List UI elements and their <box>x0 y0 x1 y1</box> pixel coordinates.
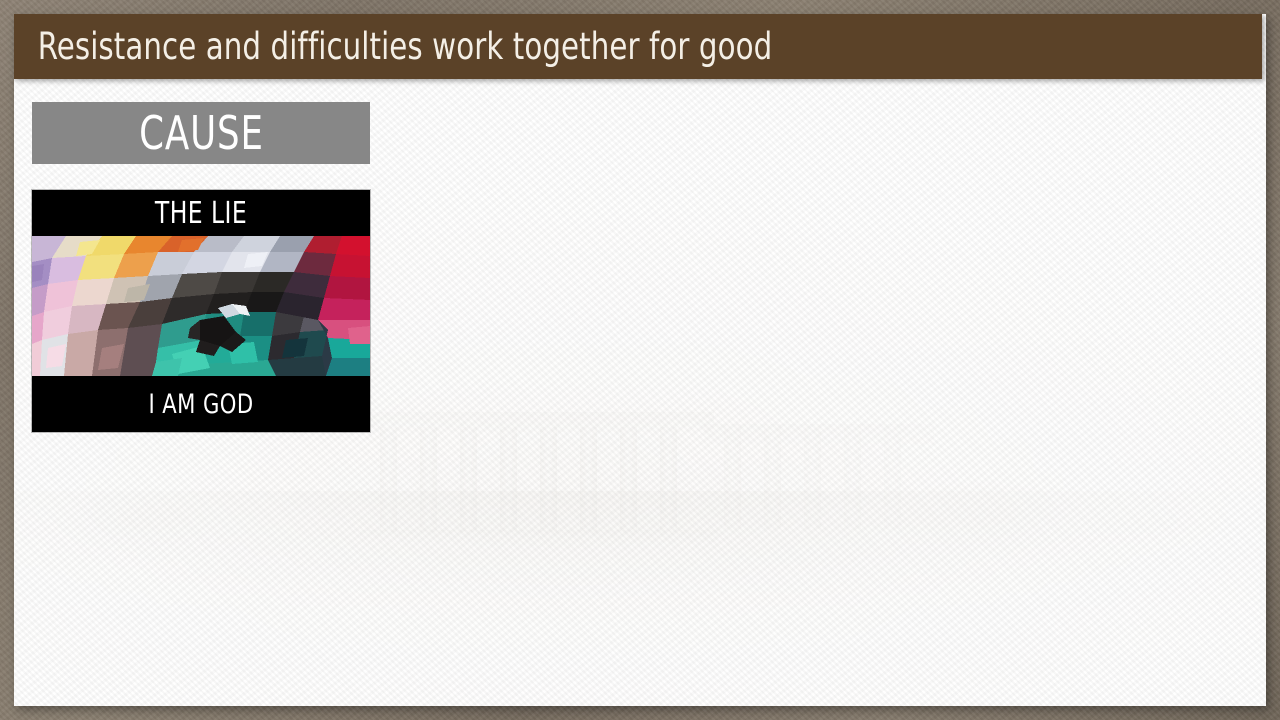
watermark-ground <box>14 491 1266 706</box>
cause-label: CAUSE <box>139 110 264 156</box>
slide-outer-frame: Resistance and difficulties work togethe… <box>0 0 1280 720</box>
temple-column <box>420 427 437 532</box>
the-lie-card: THE LIE <box>32 190 370 432</box>
temple-column <box>804 424 821 529</box>
temple-column <box>540 427 557 532</box>
temple-column <box>460 427 477 532</box>
temple-column <box>884 424 901 529</box>
page-title: Resistance and difficulties work togethe… <box>14 25 772 68</box>
low-poly-eye-image <box>32 236 370 376</box>
temple-column <box>844 424 861 529</box>
temple-base <box>360 530 718 542</box>
temple-entablature <box>704 424 934 444</box>
watermark-temple-secondary <box>714 424 924 529</box>
temple-column <box>620 427 637 532</box>
slide-canvas: Resistance and difficulties work togethe… <box>14 14 1266 706</box>
temple-entablature <box>364 412 714 432</box>
cause-heading-box: CAUSE <box>32 102 370 164</box>
watermark-trees <box>14 461 1266 556</box>
temple-column <box>660 427 677 532</box>
temple-column <box>724 424 741 529</box>
temple-column <box>380 427 397 532</box>
eye-artwork-svg <box>32 236 370 376</box>
i-am-god-caption: I AM GOD <box>54 376 348 432</box>
slide-title-bar: Resistance and difficulties work togethe… <box>14 14 1262 79</box>
watermark-temple-main <box>374 412 704 532</box>
temple-column <box>580 427 597 532</box>
temple-column <box>764 424 781 529</box>
temple-column <box>500 427 517 532</box>
the-lie-caption: THE LIE <box>54 190 348 236</box>
